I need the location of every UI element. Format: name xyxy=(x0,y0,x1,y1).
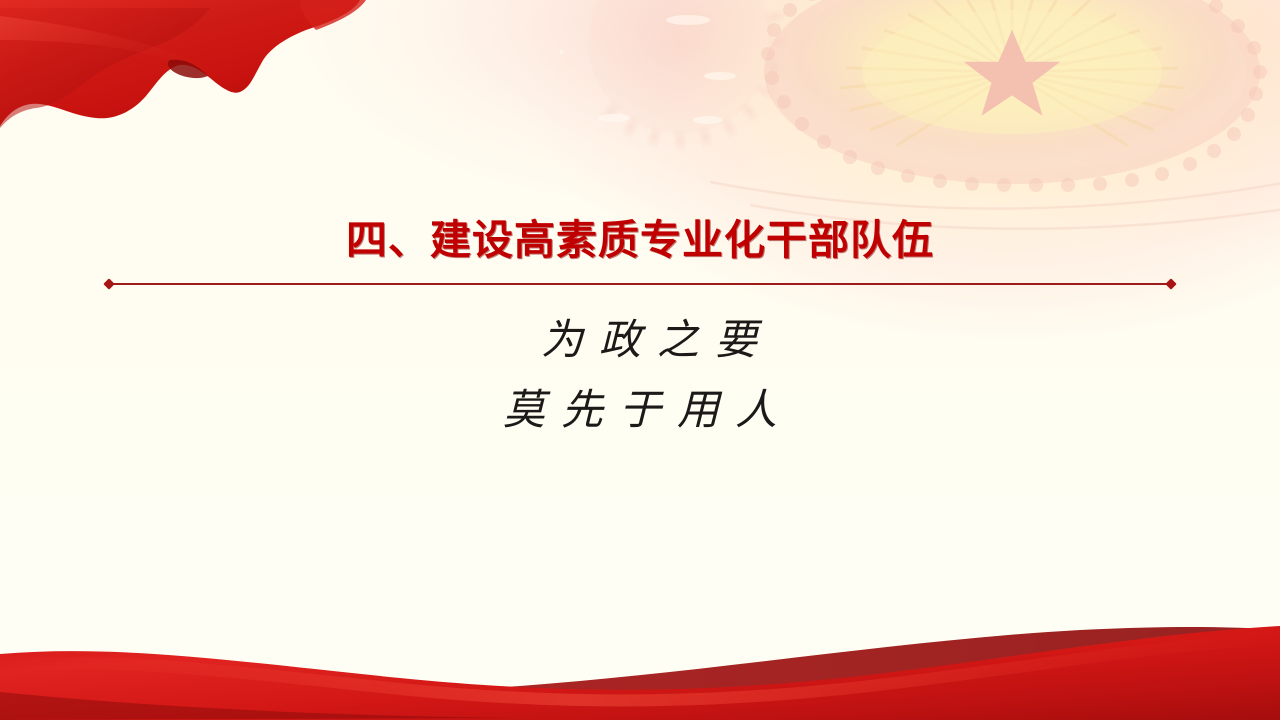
quote-line-2: 莫先于用人 xyxy=(0,376,1280,446)
quote-block: 为政之要 莫先于用人 xyxy=(0,306,1280,446)
divider-rule xyxy=(109,283,1171,285)
presentation-slide: 四、建设高素质专业化干部队伍 为政之要 莫先于用人 xyxy=(0,0,1280,720)
quote-line-1: 为政之要 xyxy=(0,306,1280,376)
title-divider xyxy=(105,282,1175,285)
slide-content: 四、建设高素质专业化干部队伍 为政之要 莫先于用人 xyxy=(0,0,1280,720)
page-title: 四、建设高素质专业化干部队伍 xyxy=(0,206,1280,266)
divider-diamond-right-icon xyxy=(1165,278,1176,289)
